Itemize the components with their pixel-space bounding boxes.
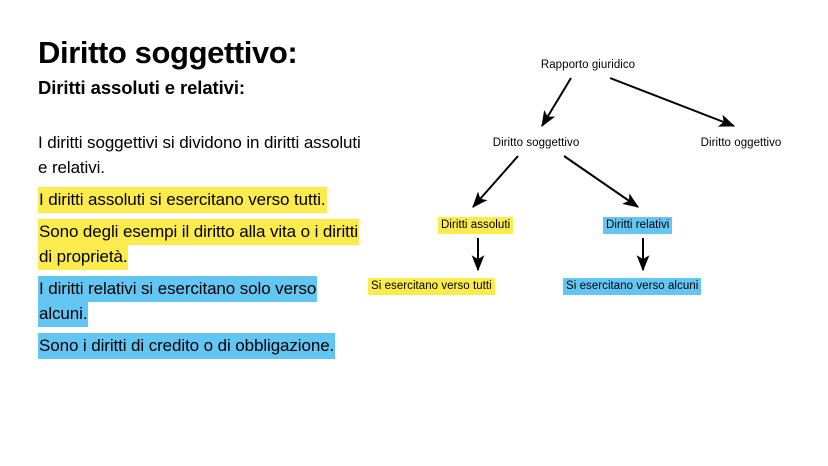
- diagram-arrows-layer: [358, 40, 820, 310]
- page-subtitle: Diritti assoluti e relativi:: [38, 77, 368, 99]
- diagram-node-rapporto-giuridico: Rapporto giuridico: [541, 58, 635, 73]
- paragraph-relativi: I diritti relativi si esercitano solo ve…: [38, 276, 368, 326]
- arrow-soggettivo-to-assoluti: [473, 156, 518, 207]
- paragraph-credito: Sono i diritti di credito o di obbligazi…: [38, 333, 368, 358]
- diagram-node-diritto-soggettivo: Diritto soggettivo: [493, 136, 580, 151]
- concept-diagram: Rapporto giuridico Diritto soggettivo Di…: [358, 40, 820, 310]
- diagram-node-esercitano-verso-tutti: Si esercitano verso tutti: [368, 278, 495, 295]
- diagram-node-diritti-relativi: Diritti relativi: [603, 217, 672, 234]
- paragraph-assoluti: I diritti assoluti si esercitano verso t…: [38, 187, 368, 212]
- paragraph-intro-text: I diritti soggettivi si dividono in diri…: [38, 133, 361, 177]
- slide-text-column: Diritto soggettivo: Diritti assoluti e r…: [38, 36, 368, 358]
- arrow-soggettivo-to-relativi: [564, 156, 638, 207]
- arrow-root-to-oggettivo: [610, 78, 734, 126]
- paragraph-credito-text: Sono i diritti di credito o di obbligazi…: [38, 333, 335, 359]
- arrow-root-to-soggettivo: [542, 78, 571, 126]
- diagram-node-diritto-oggettivo: Diritto oggettivo: [701, 136, 782, 151]
- paragraph-assoluti-text: I diritti assoluti si esercitano verso t…: [38, 187, 327, 213]
- paragraph-esempi-text: Sono degli esempi il diritto alla vita o…: [38, 219, 359, 270]
- body-text-block: I diritti soggettivi si dividono in diri…: [38, 130, 368, 358]
- paragraph-relativi-text: I diritti relativi si esercitano solo ve…: [38, 276, 317, 327]
- diagram-node-esercitano-verso-alcuni: Si esercitano verso alcuni: [563, 278, 701, 295]
- paragraph-esempi: Sono degli esempi il diritto alla vita o…: [38, 219, 368, 269]
- paragraph-intro: I diritti soggettivi si dividono in diri…: [38, 130, 368, 180]
- diagram-node-diritti-assoluti: Diritti assoluti: [438, 217, 513, 234]
- page-title: Diritto soggettivo:: [38, 36, 368, 71]
